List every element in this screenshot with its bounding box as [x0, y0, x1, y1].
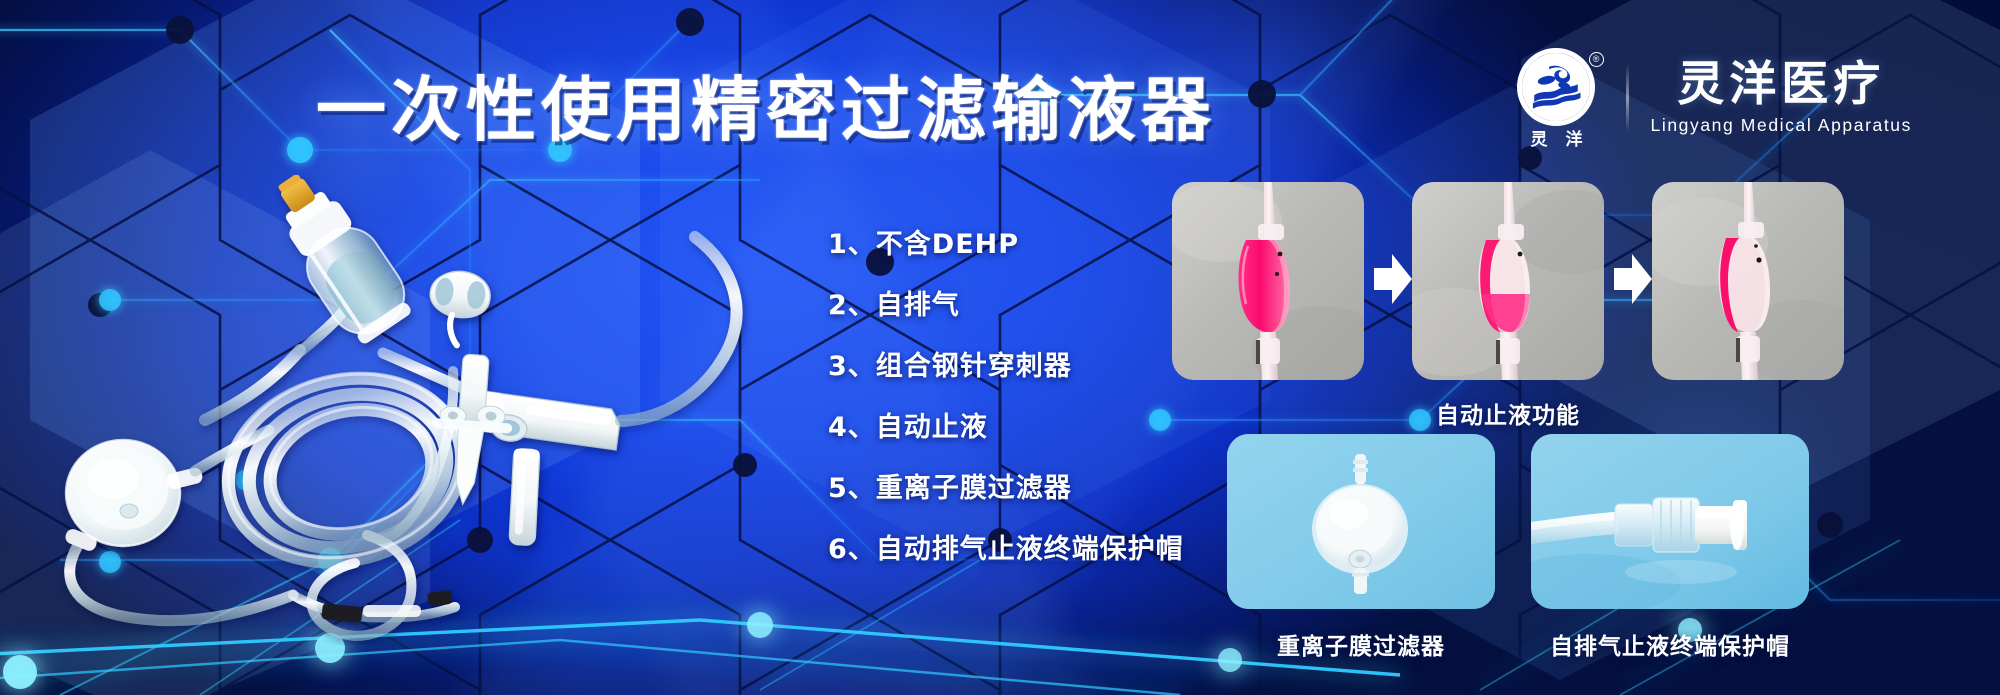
product-banner: 一次性使用精密过滤输液器 ® 灵洋 灵洋医疗: [0, 0, 2000, 695]
list-item: 5、重离子膜过滤器: [828, 466, 1184, 505]
arrow-right-icon: [1370, 250, 1414, 308]
brand-logo: ® 灵洋 灵洋医疗 Lingyang Medical Apparatus: [1510, 48, 1912, 148]
list-item: 2、自排气: [828, 283, 1184, 322]
caption-heavy-ion-filter: 重离子膜过滤器: [1227, 627, 1495, 661]
arrow-right-icon: [1610, 250, 1654, 308]
brand-seal-mark: ® 灵洋: [1510, 48, 1604, 148]
registered-trademark-icon: ®: [1589, 52, 1604, 67]
page-title: 一次性使用精密过滤输液器: [316, 54, 1216, 155]
brand-name-cn: 灵洋医疗: [1677, 60, 1885, 109]
list-item: 6、自动排气止液终端保护帽: [828, 527, 1184, 566]
brand-name-en: Lingyang Medical Apparatus: [1651, 115, 1912, 136]
list-item: 4、自动止液: [828, 405, 1184, 444]
photo-heavy-ion-filter: [1227, 434, 1495, 609]
list-item: 1、不含DEHP: [828, 222, 1184, 261]
main-product-photo: [55, 175, 755, 645]
caption-autostop-function: 自动止液功能: [1172, 396, 1844, 430]
photo-autostop-draining: [1412, 182, 1604, 380]
caption-terminal-protective-cap: 自排气止液终端保护帽: [1521, 627, 1819, 661]
list-item: 3、组合钢针穿刺器: [828, 344, 1184, 383]
photo-terminal-protective-cap: [1531, 434, 1809, 609]
brand-divider: [1626, 63, 1629, 133]
seal-label: 灵洋: [1510, 125, 1604, 150]
photo-autostop-full: [1172, 182, 1364, 380]
seal-icon: [1517, 48, 1595, 126]
feature-list: 1、不含DEHP 2、自排气 3、组合钢针穿刺器 4、自动止液 5、重离子膜过滤…: [828, 222, 1184, 566]
photo-autostop-stopped: [1652, 182, 1844, 380]
